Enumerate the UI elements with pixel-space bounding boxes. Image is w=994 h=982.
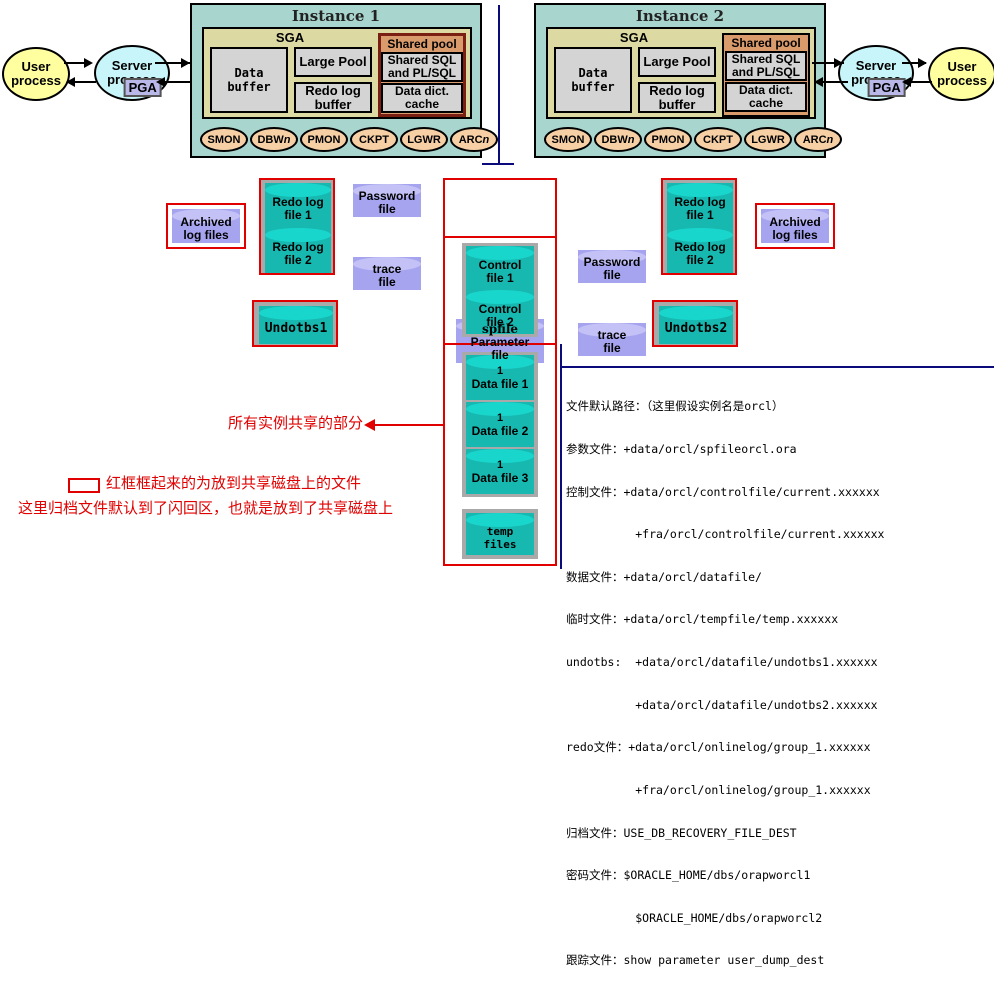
user-process-right-label: User process <box>937 60 987 88</box>
bg-process-pmon-1[interactable]: PMON <box>300 127 348 152</box>
undotbs2-frame: Undotbs2 <box>652 300 738 347</box>
instance-1-shared-sql: Shared SQL and PL/SQL <box>381 52 463 82</box>
password-file-right-label: Password file <box>584 256 641 282</box>
temp-files-plate: temp files <box>462 509 538 559</box>
instance-2-large-pool: Large Pool <box>638 47 716 77</box>
bg-process-smon-1[interactable]: SMON <box>200 127 248 152</box>
user-process-right[interactable]: User process <box>928 47 994 101</box>
instance-2-shared-pool: Shared pool Shared SQL and PL/SQL Data d… <box>722 33 810 117</box>
instance-2-data-dict-cache: Data dict. cache <box>725 82 807 112</box>
control-file-1-label: Control file 1 <box>479 259 522 285</box>
paths-note-line-9: +fra/orcl/onlinelog/group_1.xxxxxx <box>566 783 885 797</box>
paths-note-line-8: redo文件：+data/orcl/onlinelog/group_1.xxxx… <box>566 740 885 754</box>
data-file-3[interactable]: 1 Data file 3 <box>466 449 534 494</box>
paths-note-line-4: 数据文件：+data/orcl/datafile/ <box>566 570 885 584</box>
instance-1-data-dict-cache: Data dict. cache <box>381 83 463 113</box>
control-file-2-label: Control file 2 <box>479 303 522 329</box>
instance-2[interactable]: Instance 2 SGA Data buffer Large Pool Re… <box>534 3 826 158</box>
control-file-2[interactable]: Control file 2 <box>466 290 534 334</box>
spfile-parameter-file-label: Parameter file <box>471 336 530 362</box>
instance-1[interactable]: Instance 1 SGA Data buffer Large Pool Re… <box>190 3 482 158</box>
instance-1-redo-log-buffer: Redo log buffer <box>294 82 372 113</box>
trace-file-right-label: trace file <box>598 329 627 355</box>
paths-note-block: 文件默认路径：（这里假设实例名是orcl） 参数文件：+data/orcl/sp… <box>566 371 885 982</box>
arrow-line-user-to-server-left <box>64 62 86 64</box>
shared-parts-callout-label: 所有实例共享的部分 <box>228 414 363 433</box>
server-process-left[interactable]: Server process PGA <box>94 45 170 101</box>
temp-files-label: temp files <box>483 525 516 551</box>
navy-vertical-separator-top <box>498 5 500 165</box>
instance-1-data-buffer: Data buffer <box>210 47 288 113</box>
password-file-left[interactable]: Password file <box>353 184 421 217</box>
instance-2-shared-pool-title: Shared pool <box>731 36 800 50</box>
bg-process-ckpt-2[interactable]: CKPT <box>694 127 742 152</box>
bg-process-lgwr-1[interactable]: LGWR <box>400 127 448 152</box>
trace-file-left[interactable]: trace file <box>353 257 421 290</box>
control-files-plate: Control file 1 Control file 2 <box>462 243 538 337</box>
instance-1-large-pool: Large Pool <box>294 47 372 77</box>
user-process-left[interactable]: User process <box>2 47 70 101</box>
instance-1-title: Instance 1 <box>192 7 480 25</box>
instance-2-data-buffer: Data buffer <box>554 47 632 113</box>
arrow-head-server-to-user-left <box>66 77 75 87</box>
instance-2-data-buffer-label: Data buffer <box>571 66 614 94</box>
paths-note-line-5: 临时文件：+data/orcl/tempfile/temp.xxxxxx <box>566 612 885 626</box>
data-file-1[interactable]: 1 Data file 1 <box>466 355 534 400</box>
data-file-2[interactable]: 1 Data file 2 <box>466 402 534 447</box>
instance-1-sga: SGA Data buffer Large Pool Redo log buff… <box>202 27 472 119</box>
instance-2-sga: SGA Data buffer Large Pool Redo log buff… <box>546 27 816 119</box>
archived-log-files-right[interactable]: Archived log files <box>761 209 829 243</box>
navy-horizontal-separator-top <box>482 163 514 165</box>
shared-column-divider-1 <box>445 236 555 238</box>
paths-note-line-10: 归档文件：USE_DB_RECOVERY_FILE_DEST <box>566 826 885 840</box>
control-file-1[interactable]: Control file 1 <box>466 246 534 290</box>
arrow-head-user-to-server-left <box>84 58 93 68</box>
temp-files[interactable]: temp files <box>466 513 534 555</box>
bg-process-arcn-1[interactable]: ARCn <box>450 127 498 152</box>
bg-process-lgwr-2[interactable]: LGWR <box>744 127 792 152</box>
redo-log-files-left-frame: Redo log file 1 Redo log file 2 <box>259 178 335 275</box>
arrow-head-instance1-to-server <box>156 77 165 87</box>
arrow-head-server-to-instance1 <box>181 58 190 68</box>
instance-1-redo-log-buffer-label: Redo log buffer <box>305 84 361 112</box>
pga-box-right: PGA <box>868 78 906 97</box>
paths-note-line-3: +fra/orcl/controlfile/current.xxxxxx <box>566 527 885 541</box>
data-file-2-label: Data file 2 <box>472 425 529 438</box>
paths-note-line-11: 密码文件：$ORACLE_HOME/dbs/orapworcl1 <box>566 868 885 882</box>
password-file-left-label: Password file <box>359 190 416 216</box>
arrow-head-instance2-to-server <box>834 58 843 68</box>
bg-process-smon-2[interactable]: SMON <box>544 127 592 152</box>
undotbs1-frame: Undotbs1 <box>252 300 338 347</box>
bg-process-pmon-2[interactable]: PMON <box>644 127 692 152</box>
redo-log-file-2-left[interactable]: Redo log file 2 <box>265 228 331 273</box>
shared-parts-callout-arrowhead <box>364 419 375 431</box>
bg-process-dbwn-2[interactable]: DBWn <box>594 127 642 152</box>
instance-2-large-pool-label: Large Pool <box>643 55 710 69</box>
archived-log-files-left[interactable]: Archived log files <box>172 209 240 243</box>
bg-process-dbwn-1[interactable]: DBWn <box>250 127 298 152</box>
paths-note-line-6: undotbs: +data/orcl/datafile/undotbs1.xx… <box>566 655 885 669</box>
redo-log-file-1-right[interactable]: Redo log file 1 <box>667 183 733 228</box>
data-file-3-label: Data file 3 <box>472 472 529 485</box>
instance-2-sga-label: SGA <box>548 30 720 45</box>
instance-2-shared-sql: Shared SQL and PL/SQL <box>725 51 807 81</box>
redo-log-file-2-right[interactable]: Redo log file 2 <box>667 228 733 273</box>
arrow-head-server-to-user-right <box>918 58 927 68</box>
archived-log-files-left-frame: Archived log files <box>166 203 246 249</box>
red-frame-legend-swatch <box>68 478 100 493</box>
archived-log-files-left-label: Archived log files <box>180 216 231 242</box>
paths-note-line-13: 跟踪文件：show parameter user_dump_dest <box>566 953 885 967</box>
instance-1-sga-label: SGA <box>204 30 376 45</box>
paths-note-line-1: 参数文件：+data/orcl/spfileorcl.ora <box>566 442 885 456</box>
redo-log-file-1-left-label: Redo log file 1 <box>272 196 323 222</box>
undotbs2[interactable]: Undotbs2 <box>659 306 733 344</box>
undotbs1[interactable]: Undotbs1 <box>259 306 333 344</box>
undotbs1-label: Undotbs1 <box>265 322 328 335</box>
password-file-right[interactable]: Password file <box>578 250 646 283</box>
redo-log-files-right-frame: Redo log file 1 Redo log file 2 <box>661 178 737 275</box>
redo-log-file-2-right-label: Redo log file 2 <box>674 241 725 267</box>
bg-process-ckpt-1[interactable]: CKPT <box>350 127 398 152</box>
instance-1-shared-pool: Shared pool Shared SQL and PL/SQL Data d… <box>378 33 466 117</box>
trace-file-left-label: trace file <box>373 263 402 289</box>
data-file-1-label: Data file 1 <box>472 378 529 391</box>
instance-2-background-processes: SMON DBWn PMON CKPT LGWR ARCn <box>544 127 842 152</box>
archived-log-files-right-frame: Archived log files <box>755 203 835 249</box>
archived-log-files-right-label: Archived log files <box>769 216 820 242</box>
data-files-plate: 1 Data file 1 1 Data file 2 1 Data file … <box>462 352 538 497</box>
redo-log-file-2-left-label: Redo log file 2 <box>272 241 323 267</box>
instance-2-redo-log-buffer: Redo log buffer <box>638 82 716 113</box>
undotbs2-label: Undotbs2 <box>665 322 728 335</box>
navy-vertical-separator-bottom <box>560 344 562 569</box>
instance-1-shared-pool-title: Shared pool <box>387 37 456 51</box>
instance-2-title: Instance 2 <box>536 7 824 25</box>
server-process-right[interactable]: Server process PGA <box>838 45 914 101</box>
instance-1-large-pool-label: Large Pool <box>299 55 366 69</box>
paths-note-line-2: 控制文件：+data/orcl/controlfile/current.xxxx… <box>566 485 885 499</box>
arrow-head-server-to-instance2 <box>814 77 823 87</box>
redo-log-file-1-right-label: Redo log file 1 <box>674 196 725 222</box>
legend-line-1: 红框框起来的为放到共享磁盘上的文件 <box>106 474 361 493</box>
shared-parts-callout-line <box>366 424 443 426</box>
trace-file-right[interactable]: trace file <box>578 323 646 356</box>
paths-note-line-7: +data/orcl/datafile/undotbs2.xxxxxx <box>566 698 885 712</box>
redo-log-file-1-left[interactable]: Redo log file 1 <box>265 183 331 228</box>
instance-1-data-buffer-label: Data buffer <box>227 66 270 94</box>
user-process-left-label: User process <box>11 60 61 88</box>
arrow-head-user-to-server-right <box>902 77 911 87</box>
paths-note-line-0: 文件默认路径：（这里假设实例名是orcl） <box>566 399 885 413</box>
bg-process-arcn-2[interactable]: ARCn <box>794 127 842 152</box>
paths-note-line-12: $ORACLE_HOME/dbs/orapworcl2 <box>566 911 885 925</box>
navy-horizontal-separator-note <box>560 366 994 368</box>
legend-line-2: 这里归档文件默认到了闪回区，也就是放到了共享磁盘上 <box>18 499 393 518</box>
instance-1-background-processes: SMON DBWn PMON CKPT LGWR ARCn <box>200 127 498 152</box>
instance-2-redo-log-buffer-label: Redo log buffer <box>649 84 705 112</box>
